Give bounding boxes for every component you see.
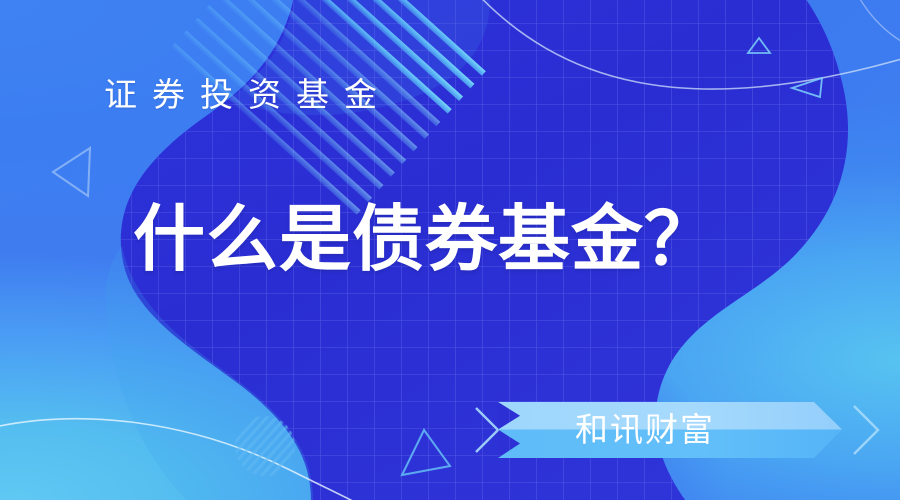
- promo-banner: 证券投资基金 什么是债券基金？: [0, 0, 900, 500]
- triangle-outline-small-left: [792, 78, 822, 97]
- banner-subtitle: 证券投资基金: [104, 78, 392, 111]
- chevron-outline-left: [476, 408, 498, 452]
- triangle-outline-bottom: [402, 430, 450, 475]
- chevron-outline-right: [854, 406, 878, 454]
- brand-label: 和讯财富: [575, 413, 715, 446]
- triangle-outline-small-up: [748, 38, 770, 53]
- triangle-outline-left: [53, 148, 90, 196]
- banner-headline: 什么是债券基金？: [133, 204, 717, 276]
- hatched-circle: [235, 416, 295, 476]
